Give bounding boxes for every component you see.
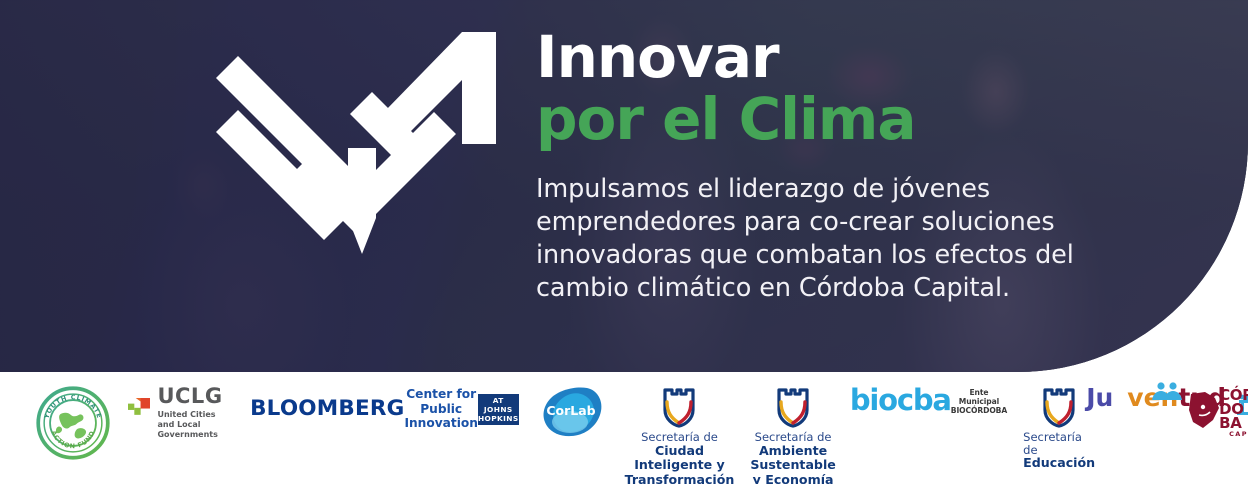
logo-secretaria-educacion: Secretaría de Educación [1023, 386, 1095, 471]
cordoba-map-icon [1185, 390, 1221, 430]
logo-youth-climate-action-fund: YOUTH CLIMATE ACTION FUND [36, 386, 110, 460]
juventud-part1: Ju [1086, 386, 1113, 410]
secretaria-ciudad-line2: Ciudad Inteligente y [625, 444, 735, 473]
secretaria-ciudad-line3: Transformación Digital [625, 473, 735, 484]
secretaria-ciudad-line1: Secretaría de [641, 431, 718, 444]
uclg-squares-icon [128, 398, 150, 428]
bloomberg-line3: AT JOHNS HOPKINS [478, 394, 519, 425]
uclg-line2: and Local Governments [157, 420, 232, 440]
biocba-subtitle: Ente Municipal BIOCÓRDOBA [951, 388, 1007, 415]
hero-banner: Innovar por el Clima Impulsamos el lider… [0, 0, 1248, 372]
secretaria-ambiente-line1: Secretaría de [755, 431, 832, 444]
cordoba-shield-icon [1039, 386, 1079, 428]
landing-page: Innovar por el Clima Impulsamos el lider… [0, 0, 1248, 484]
hero-title-line2: por el Clima [536, 89, 1096, 150]
secretaria-ambiente-line2: Ambiente Sustentable [750, 444, 835, 473]
partner-logo-bar: YOUTH CLIMATE ACTION FUND UCLG [0, 372, 1248, 484]
cordoba-caption: CAPITAL [1229, 430, 1248, 438]
uclg-acronym: UCLG [157, 386, 232, 407]
logo-secretaria-ciudad-inteligente: Secretaría de Ciudad Inteligente y Trans… [625, 386, 735, 484]
uclg-wordmark: UCLG United Cities and Local Governments [157, 386, 232, 439]
secretaria-ambiente-line3: y Economía Circular [750, 473, 835, 484]
hero-title-line1: Innovar [536, 28, 1096, 87]
logo-uclg: UCLG United Cities and Local Governments [128, 386, 232, 439]
hero-text-block: Innovar por el Clima Impulsamos el lider… [536, 28, 1096, 305]
juventud-people-icon [1151, 381, 1183, 401]
logo-biocba: biocba Ente Municipal BIOCÓRDOBA [850, 386, 1007, 415]
secretaria-educacion-line2: Educación [1023, 456, 1095, 470]
chevron-arrow-mark-icon [200, 22, 500, 262]
biocba-wordmark: biocba [850, 386, 951, 415]
cordoba-wordmark: CÓR DO BA [1219, 389, 1248, 430]
cordoba-shield-icon [773, 386, 813, 428]
hero-subtitle: Impulsamos el liderazgo de jóvenes empre… [536, 173, 1081, 306]
logo-corlab: CorLab [537, 386, 609, 444]
logo-secretaria-ambiente-sustentable: Secretaría de Ambiente Sustentable y Eco… [750, 386, 835, 484]
logo-bloomberg-center: BLOOMBERG Center for Public Innovation A… [250, 386, 519, 431]
secretaria-educacion-line1: Secretaría de [1023, 431, 1095, 456]
cordoba-shield-icon [659, 386, 699, 428]
bloomberg-line1: BLOOMBERG [250, 398, 404, 420]
uclg-line1: United Cities [157, 410, 232, 420]
bloomberg-line2: Center for Public Innovation [404, 387, 477, 431]
corlab-label: CorLab [546, 403, 595, 418]
